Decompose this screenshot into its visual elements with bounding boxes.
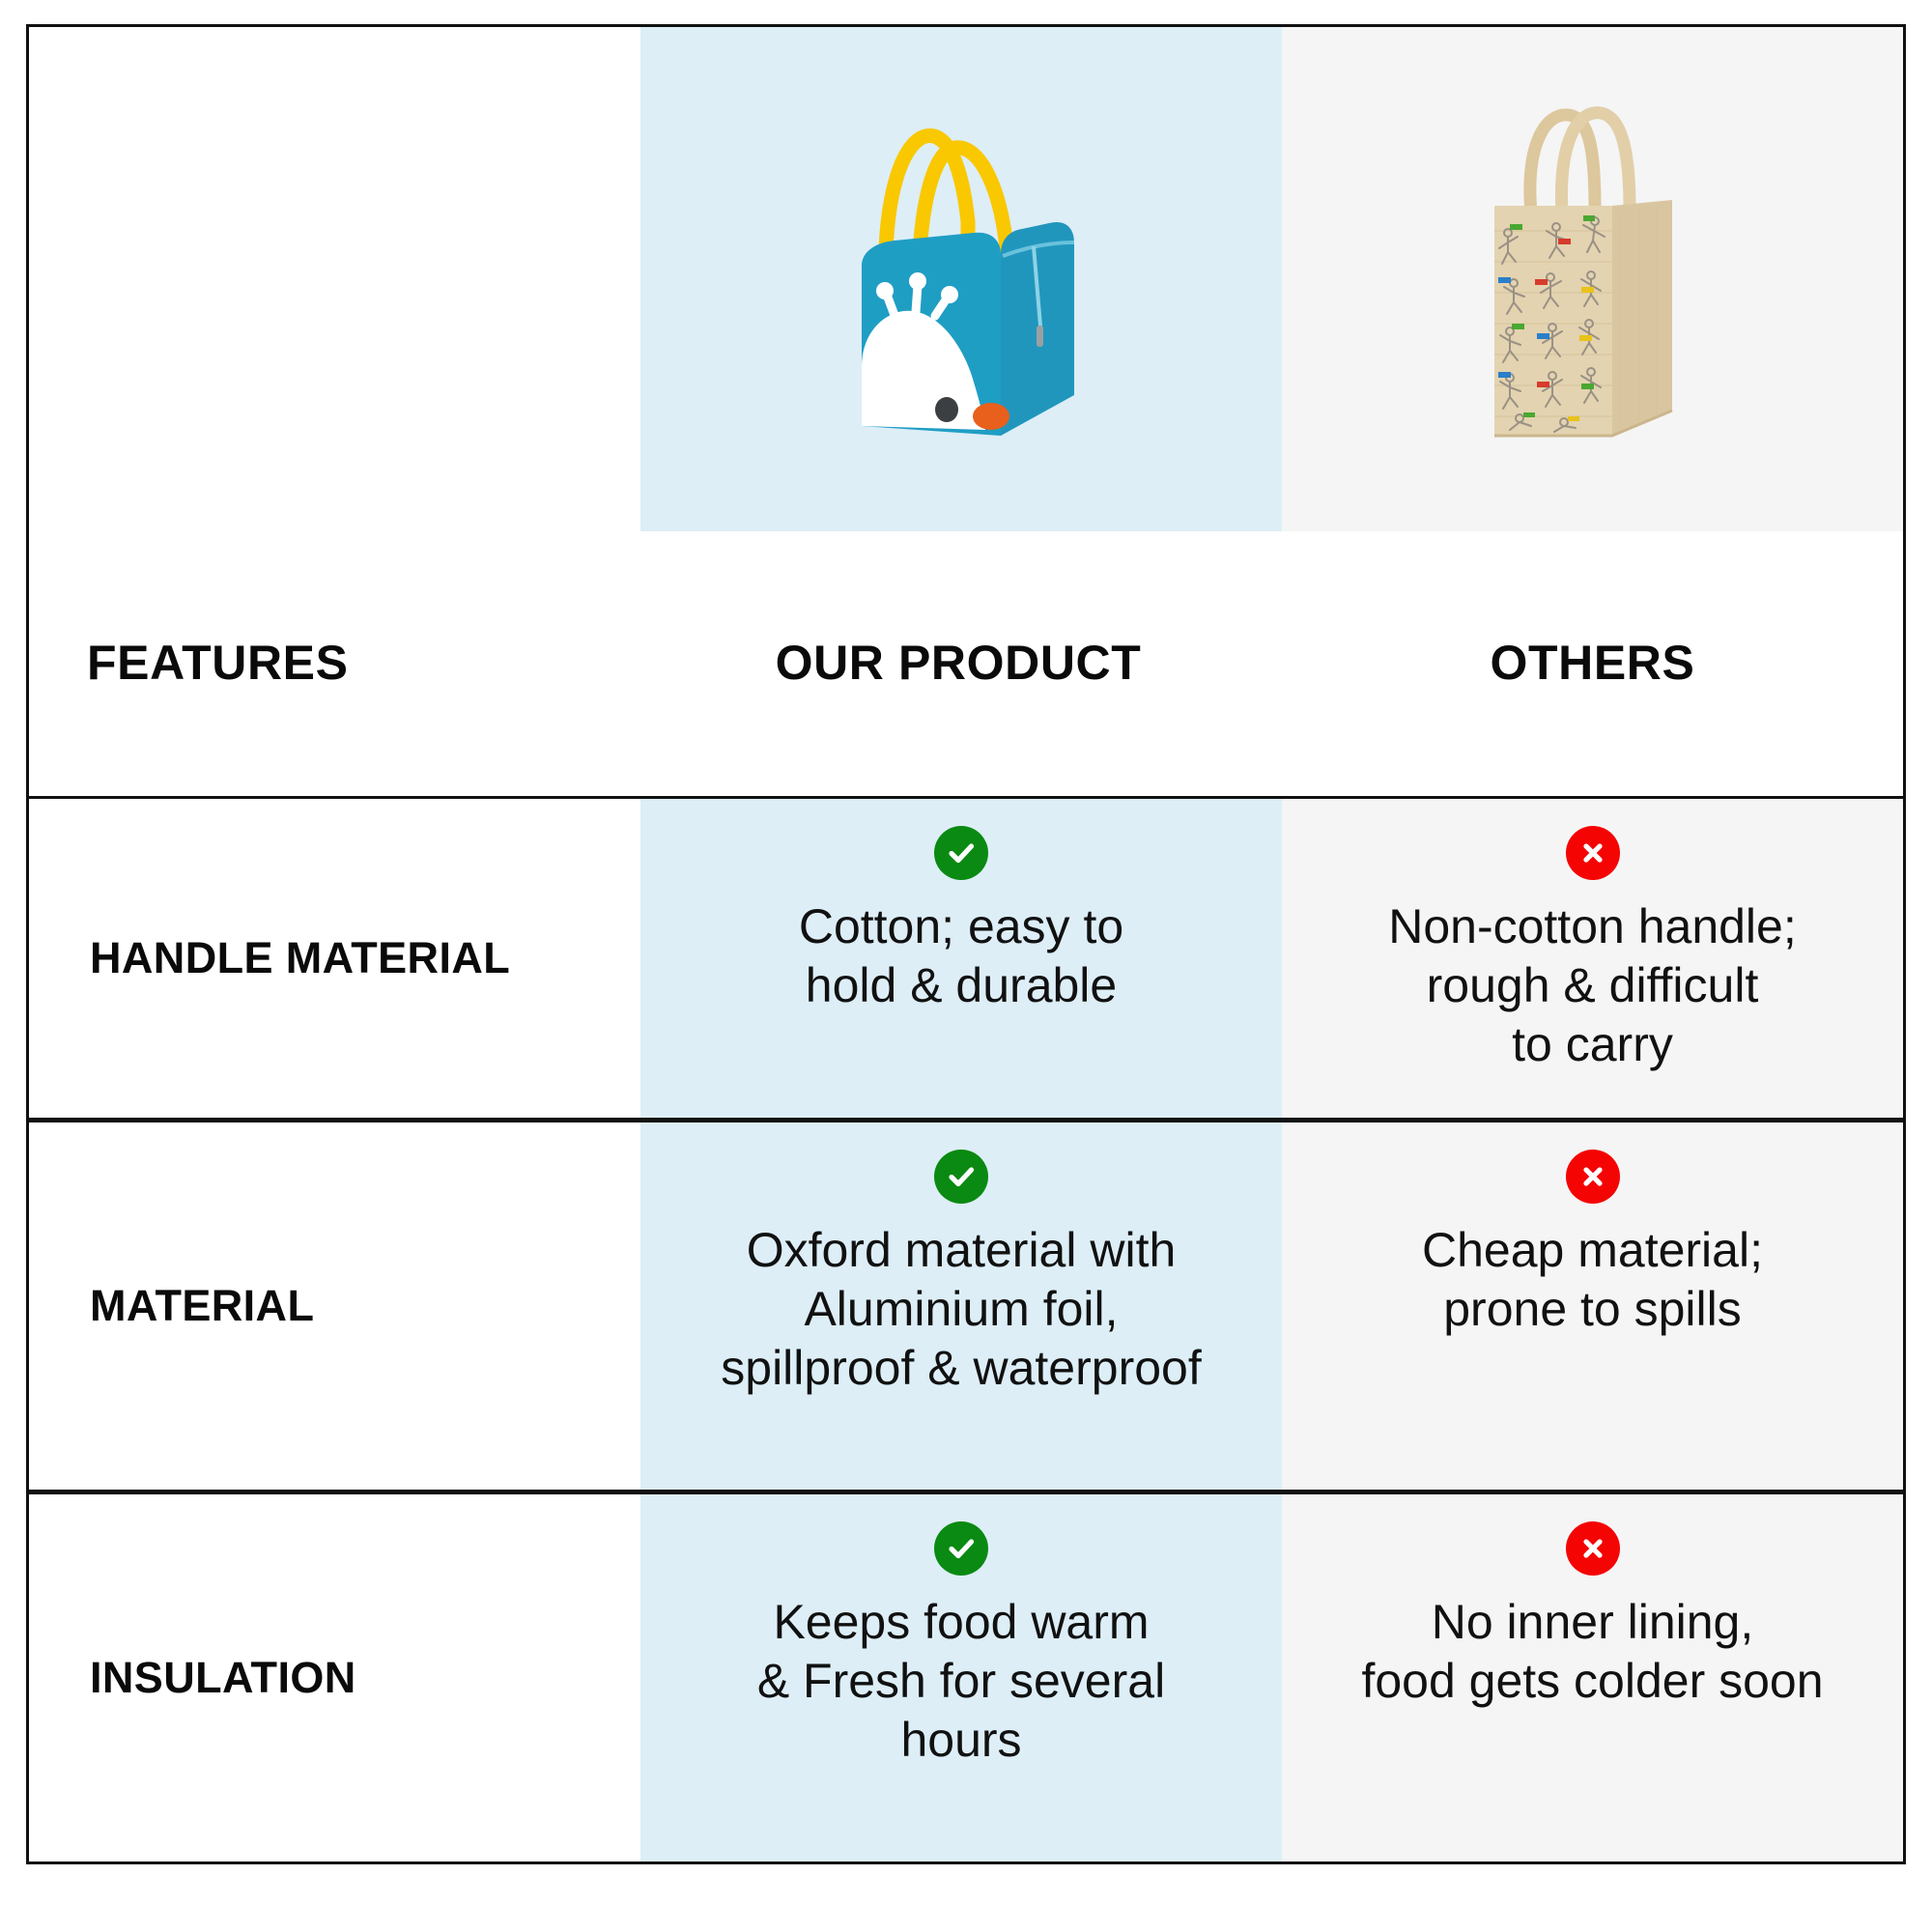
our-product-text-insulation: Keeps food warm & Fresh for several hour… [654, 1593, 1268, 1770]
others-text-insulation: No inner lining, food gets colder soon [1309, 1593, 1876, 1711]
check-circle-icon [934, 1521, 988, 1576]
comparison-rows: HANDLE MATERIAL Cotton; easy to hold & d… [26, 796, 1906, 1864]
our-product-cell-handle-material: Cotton; easy to hold & durable [640, 799, 1282, 1118]
column-header-features: FEATURES [26, 635, 638, 691]
table-row: INSULATION Keeps food warm & Fresh for s… [29, 1490, 1903, 1861]
cross-circle-icon [1566, 1150, 1620, 1204]
our-product-text-handle-material: Cotton; easy to hold & durable [654, 897, 1268, 1015]
our-product-text-material: Oxford material with Aluminium foil, spi… [654, 1221, 1268, 1398]
others-cell-handle-material: Non-cotton handle; rough & difficult to … [1282, 799, 1903, 1118]
our-product-image-cell [640, 27, 1282, 531]
cross-circle-icon [1566, 826, 1620, 880]
others-text-handle-material: Non-cotton handle; rough & difficult to … [1309, 897, 1876, 1074]
check-circle-icon [934, 1150, 988, 1204]
column-header-our-product: OUR PRODUCT [638, 635, 1279, 691]
others-cell-insulation: No inner lining, food gets colder soon [1282, 1494, 1903, 1861]
comparison-table: FEATURES OUR PRODUCT OTHERS HANDLE MATER… [0, 0, 1932, 1932]
our-product-cell-material: Oxford material with Aluminium foil, spi… [640, 1122, 1282, 1490]
jute-tote-bag-image [1448, 86, 1738, 472]
feature-label-handle-material: HANDLE MATERIAL [29, 799, 640, 1118]
others-cell-material: Cheap material; prone to spills [1282, 1122, 1903, 1490]
check-circle-icon [934, 826, 988, 880]
table-row: HANDLE MATERIAL Cotton; easy to hold & d… [29, 799, 1903, 1118]
others-product-image-cell [1282, 27, 1903, 531]
others-text-material: Cheap material; prone to spills [1309, 1221, 1876, 1339]
blue-lunch-bag-image [802, 76, 1121, 482]
column-header-row: FEATURES OUR PRODUCT OTHERS [26, 528, 1906, 796]
cross-circle-icon [1566, 1521, 1620, 1576]
our-product-cell-insulation: Keeps food warm & Fresh for several hour… [640, 1494, 1282, 1861]
column-header-others: OTHERS [1279, 635, 1906, 691]
feature-label-insulation: INSULATION [29, 1494, 640, 1861]
table-row: MATERIAL Oxford material with Aluminium … [29, 1118, 1903, 1490]
feature-label-material: MATERIAL [29, 1122, 640, 1490]
